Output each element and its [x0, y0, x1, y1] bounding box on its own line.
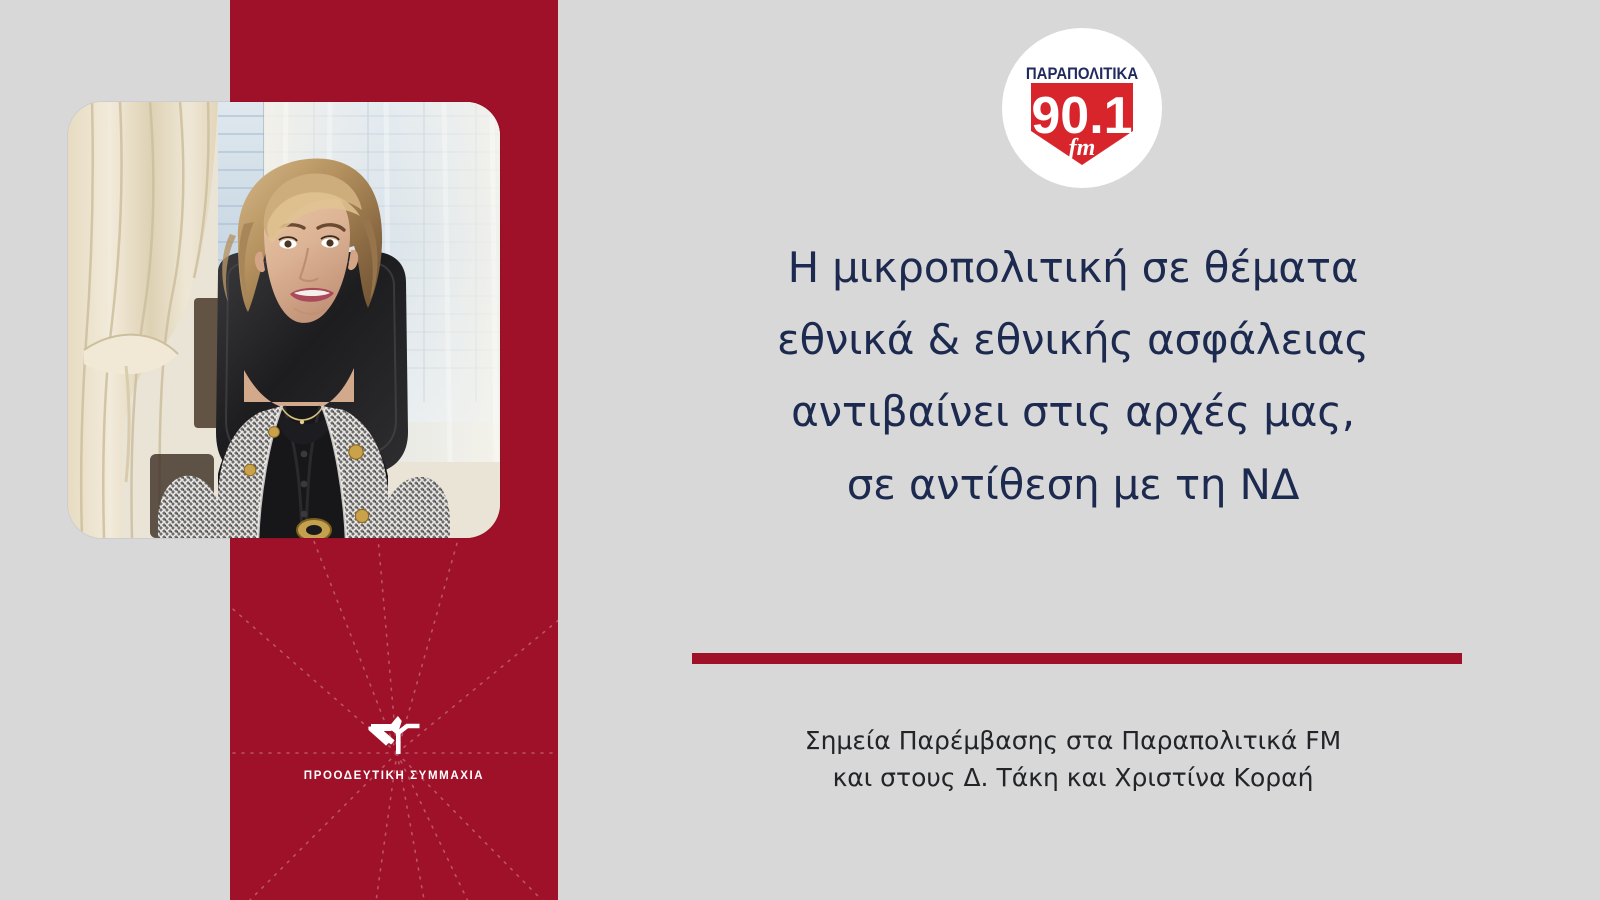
quote-line-2: εθνικά & εθνικής ασφάλειας: [680, 304, 1466, 376]
quote-card-canvas: ΠΡΟΟΔΕΥΤΙΚΗ ΣΥΜΜΑΧΙΑ: [0, 0, 1600, 900]
red-divider-rule: [692, 653, 1462, 664]
caption-line-1: Σημεία Παρέμβασης στα Παραπολιτικά FM: [680, 722, 1466, 759]
portrait-photo: [68, 102, 500, 538]
quote-line-3: αντιβαίνει στις αρχές μας,: [680, 376, 1466, 448]
caption-text: Σημεία Παρέμβασης στα Παραπολιτικά FM κα…: [680, 722, 1466, 796]
band-text: fm: [1069, 135, 1096, 161]
quote-line-1: Η μικροπολιτική σε θέματα: [680, 232, 1466, 304]
shield-badge-icon: ΠΑΡΑΠΟΛΙΤΙΚΑ 90.1 fm: [1019, 45, 1145, 171]
quote-line-4: σε αντίθεση με τη ΝΔ: [680, 449, 1466, 521]
station-name-text: ΠΑΡΑΠΟΛΙΤΙΚΑ: [1026, 65, 1139, 83]
caption-line-2: και στους Δ. Τάκη και Χριστίνα Κοραή: [680, 759, 1466, 796]
quote-text: Η μικροπολιτική σε θέματα εθνικά & εθνικ…: [680, 232, 1466, 521]
radio-station-logo: ΠΑΡΑΠΟΛΙΤΙΚΑ 90.1 fm: [1002, 28, 1162, 188]
